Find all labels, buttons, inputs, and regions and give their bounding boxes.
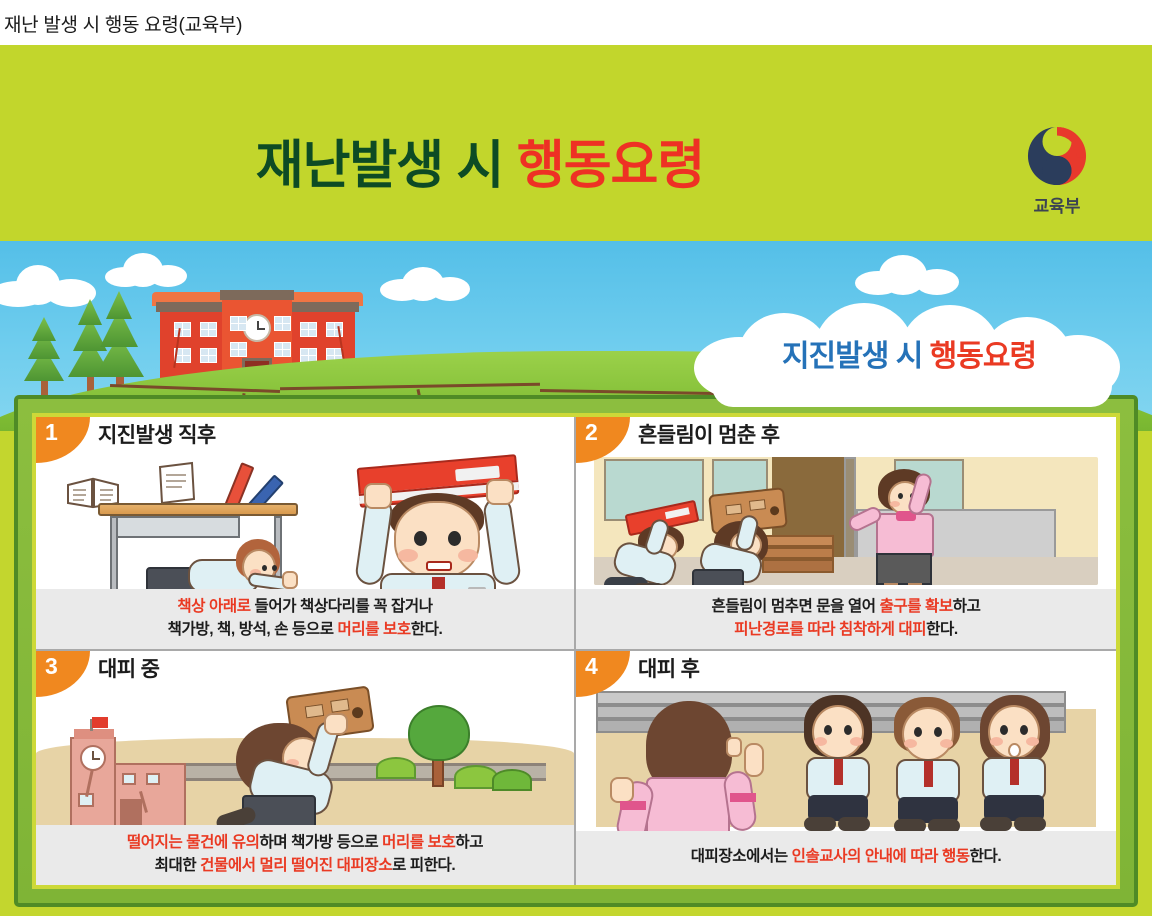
classroom-background [594,457,1098,585]
caption-4-seg-1: 인솔교사의 안내에 따라 행동 [792,848,970,865]
cracked-building-icon [70,719,190,825]
girl-running-icon [214,691,394,825]
caption-3-seg-0: 떨어지는 물건에 유의 [127,834,260,851]
pine-tree-icon-1 [22,317,66,395]
caption-3-seg-2: 머리를 보호 [382,834,455,851]
caption-2-seg-2: 하고 [953,598,981,615]
panel-3[interactable]: 3 대피 중 [36,651,576,885]
page-title: 재난 발생 시 행동 요령(교육부) [0,0,1152,45]
crouching-student-icon-3 [970,695,1066,831]
taegeuk-icon [1024,123,1090,189]
section-banner-cloud: 지진발생 시 행동요령 [694,303,1124,407]
caption-2-seg-0: 흔들림이 멈추면 문을 열어 [711,598,879,615]
caption-4-seg-2: 한다. [970,848,1002,865]
caption-2-seg-5: 한다. [926,621,958,638]
panel-2[interactable]: 2 흔들림이 멈춘 후 [576,417,1116,651]
caption-4-seg-0: 대피장소에서는 [691,848,792,865]
panel-2-title: 흔들림이 멈춘 후 [576,417,1116,451]
ministry-logo-label: 교육부 [1002,192,1112,217]
caption-1-seg-3: 책가방, 책, 방석, 손 등으로 [168,621,338,638]
banner-text-part2: 행동요령 [930,340,1036,373]
panel-1-title: 지진발생 직후 [36,417,574,451]
crouching-student-icon-2 [884,697,976,831]
section-banner-text: 지진발생 시 행동요령 [694,331,1124,375]
teacher-opening-door-icon [856,467,956,585]
panel-4-caption: 대피장소에서는 인솔교사의 안내에 따라 행동한다. [576,831,1116,885]
flying-paper-icon [154,461,198,505]
desk-drawer [110,516,240,538]
caption-3-seg-6: 건물에서 멀리 떨어진 대피장소 [200,857,392,874]
panel-2-illustration [576,451,1116,589]
ministry-logo: 교육부 [1002,123,1112,217]
poster-header: 재난발생 시 행동요령 교육부 [0,45,1152,260]
panel-4-illustration [576,685,1116,831]
panels-frame: 1 지진발생 직후 [14,395,1138,907]
girl-under-desk-icon [144,537,294,589]
panels-grid: 1 지진발생 직후 [36,417,1116,885]
panel-4-title: 대피 후 [576,651,1116,685]
banner-text-part1: 지진발생 시 [782,340,922,373]
caption-3-seg-7: 로 피한다. [392,857,455,874]
caption-3-seg-5: 최대한 [155,857,201,874]
student-with-cushion-icon [686,491,806,585]
caption-1-seg-0: 책상 아래로 [177,598,254,615]
bush-icon-3 [492,769,532,791]
crouching-student-icon-1 [794,695,886,831]
caption-1-seg-5: 한다. [411,621,443,638]
caption-3-seg-1: 하며 책가방 등으로 [260,834,383,851]
panel-1[interactable]: 1 지진발생 직후 [36,417,576,651]
boy-with-book-icon [336,457,536,589]
poster-container: 재난발생 시 행동요령 교육부 [0,45,1152,916]
caption-3-seg-3: 하고 [455,834,483,851]
panels-frame-inner: 1 지진발생 직후 [32,413,1120,889]
panel-2-caption: 흔들림이 멈추면 문을 열어 출구를 확보하고 피난경로를 따라 침착하게 대피… [576,589,1116,649]
panel-1-caption: 책상 아래로 들어가 책상다리를 꼭 잡거나 책가방, 책, 방석, 손 등으로… [36,589,574,649]
panel-3-caption: 떨어지는 물건에 유의하며 책가방 등으로 머리를 보호하고 최대한 건물에서 … [36,825,574,885]
panel-3-title: 대피 중 [36,651,574,685]
caption-2-seg-1: 출구를 확보 [880,598,953,615]
main-title-part1: 재난발생 시 [256,137,504,195]
teacher-back-icon [622,697,772,831]
caption-1-seg-4: 머리를 보호 [338,621,411,638]
panel-1-illustration [36,451,574,589]
panel-3-illustration [36,685,574,825]
caption-2-seg-4: 피난경로를 따라 침착하게 대피 [734,621,926,638]
panel-4[interactable]: 4 대피 후 [576,651,1116,885]
caption-1-seg-1: 들어가 책상다리를 꼭 잡거나 [255,598,433,615]
desk-icon [98,503,298,516]
main-title-part2: 행동요령 [517,137,704,195]
poster-main-title: 재난발생 시 행동요령 [0,123,960,198]
